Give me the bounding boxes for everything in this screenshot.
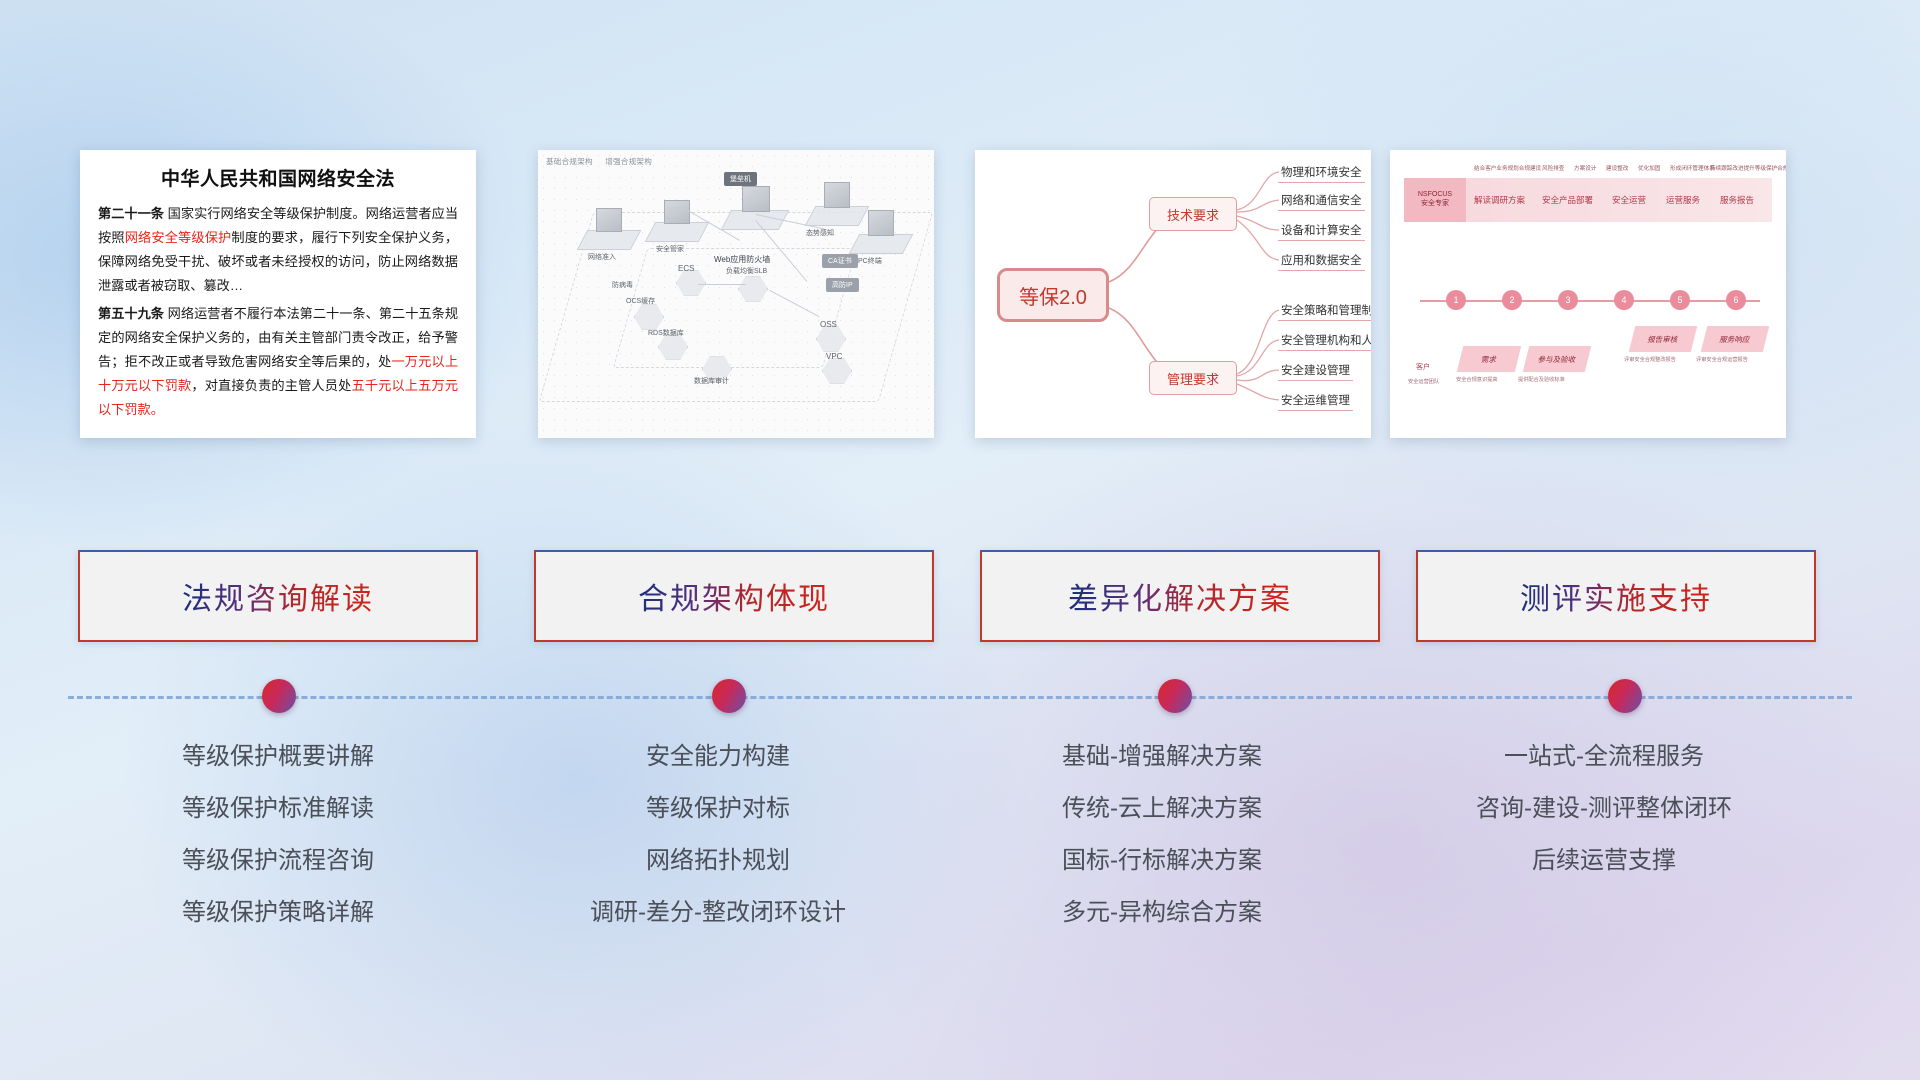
nsfocus-bottom-3-title: 服务响应 (1719, 334, 1752, 345)
timeline-marker-1[interactable] (262, 679, 296, 713)
mindmap-leaf-m0: 安全策略和管理制度 (1278, 302, 1371, 321)
nsfocus-bottom-0-title: 需求 (1480, 354, 1498, 365)
law-article-59-label: 第五十九条 (98, 306, 164, 321)
list-item: 等级保护流程咨询 (68, 849, 488, 873)
nsfocus-mid-4: 服务报告 (1720, 194, 1754, 206)
list-item: 多元-异构综合方案 (952, 901, 1372, 925)
nsfocus-top-1: 风险排查 (1542, 164, 1564, 172)
section-title-box-1[interactable]: 法规咨询解读 (78, 550, 478, 642)
nsfocus-role-sub: 安全运营团队 (1408, 378, 1439, 385)
thumbnail-architecture-diagram[interactable]: 基础合规架构 增强合规架构 (538, 150, 934, 438)
timeline (68, 695, 1852, 699)
mindmap-leaf-m3: 安全运维管理 (1278, 392, 1353, 411)
nsfocus-mid-0: 解读调研方案 (1474, 194, 1525, 206)
architecture-link-3 (698, 284, 746, 285)
nsfocus-step-5: 5 (1670, 290, 1690, 310)
architecture-node-3: 态势感知 (806, 228, 834, 238)
section-list-2: 安全能力构建 等级保护对标 网络拓扑规划 调研-差分-整改闭环设计 (508, 745, 928, 953)
law-article-59: 第五十九条 网络运营者不履行本法第二十一条、第二十五条规定的网络安全保护义务的，… (98, 302, 458, 422)
nsfocus-bottom-1-title: 参与及验收 (1537, 354, 1577, 365)
mindmap-leaf-t1: 网络和通信安全 (1278, 192, 1365, 211)
nsfocus-bottom-3-sub: 评审安全合规运营报告 (1696, 356, 1748, 363)
section-title-box-3[interactable]: 差异化解决方案 (980, 550, 1380, 642)
list-item: 咨询-建设-测评整体闭环 (1394, 797, 1814, 821)
architecture-box-3 (824, 182, 850, 208)
mindmap-leaf-m1: 安全管理机构和人员 (1278, 332, 1371, 351)
architecture-box-2 (742, 186, 770, 212)
section-list-3: 基础-增强解决方案 传统-云上解决方案 国标-行标解决方案 多元-异构综合方案 (952, 745, 1372, 953)
list-item: 国标-行标解决方案 (952, 849, 1372, 873)
list-item: 等级保护标准解读 (68, 797, 488, 821)
section-title-box-4[interactable]: 测评实施支持 (1416, 550, 1816, 642)
architecture-plate-1 (645, 222, 710, 242)
nsfocus-role: 客户 (1416, 362, 1430, 372)
architecture-plate-4 (849, 234, 914, 254)
architecture-plate-0 (577, 230, 642, 250)
thumbnail-law-document[interactable]: 中华人民共和国网络安全法 第二十一条 国家实行网络安全等级保护制度。网络运营者应… (80, 150, 476, 438)
architecture-node-4: PC终端 (858, 256, 882, 266)
law-article-21: 第二十一条 国家实行网络安全等级保护制度。网络运营者应当按照网络安全等级保护制度… (98, 202, 458, 298)
section-list-1: 等级保护概要讲解 等级保护标准解读 等级保护流程咨询 等级保护策略详解 (68, 745, 488, 953)
nsfocus-step-1: 1 (1446, 290, 1466, 310)
nsfocus-top-4: 优化加固 (1638, 164, 1660, 172)
nsfocus-step-2: 2 (1502, 290, 1522, 310)
nsfocus-bottom-2-title: 报告审核 (1647, 334, 1680, 345)
list-item: 基础-增强解决方案 (952, 745, 1372, 769)
list-item: 网络拓扑规划 (508, 849, 928, 873)
nsfocus-brand: NSFOCUS (1418, 191, 1452, 200)
section-title-box-2[interactable]: 合规架构体现 (534, 550, 934, 642)
nsfocus-bottom-2-sub: 评审安全合规整改报告 (1624, 356, 1676, 363)
architecture-node-1: 安全管家 (656, 244, 684, 254)
section-title-label-1: 法规咨询解读 (182, 574, 374, 618)
mindmap-branch-technical: 技术要求 (1149, 197, 1237, 231)
timeline-marker-2[interactable] (712, 679, 746, 713)
architecture-plate-3 (805, 206, 870, 226)
nsfocus-top-5: 形成闭环管理体系 (1670, 164, 1715, 172)
architecture-node-5: 防病毒 (612, 280, 633, 290)
architecture-header-0: 基础合规架构 (546, 157, 593, 166)
nsfocus-mid-3: 运营服务 (1666, 194, 1700, 206)
architecture-node-2: 网络准入 (588, 252, 616, 262)
law-document-body: 中华人民共和国网络安全法 第二十一条 国家实行网络安全等级保护制度。网络运营者应… (80, 150, 476, 430)
list-item: 等级保护策略详解 (68, 901, 488, 925)
mindmap-leaf-t0: 物理和环境安全 (1278, 164, 1365, 183)
nsfocus-bottom-1-sub: 提供配合及验收标准 (1518, 376, 1565, 383)
list-item: 安全能力构建 (508, 745, 928, 769)
thumbnail-mindmap[interactable]: 等保2.0 技术要求 管理要求 物理和环境安全 网络和通信安全 设备和计算安全 … (975, 150, 1371, 438)
law-document-title: 中华人民共和国网络安全法 (98, 164, 458, 191)
timeline-marker-3[interactable] (1158, 679, 1192, 713)
timeline-dashed-line (68, 696, 1852, 699)
architecture-box-4 (868, 210, 894, 236)
thumbnail-nsfocus-timeline[interactable]: NSFOCUS 安全专家 结合客户业务规划合规建设 风险排查 方案设计 建设整改… (1390, 150, 1786, 438)
mindmap-leaf-m2: 安全建设管理 (1278, 362, 1353, 381)
nsfocus-brand-sub: 安全专家 (1421, 200, 1449, 209)
nsfocus-top-2: 方案设计 (1574, 164, 1596, 172)
nsfocus-step-6: 6 (1726, 290, 1746, 310)
list-item: 一站式-全流程服务 (1394, 745, 1814, 769)
mindmap-leaf-t2: 设备和计算安全 (1278, 222, 1365, 241)
architecture-node-11: OCS缓存 (626, 296, 655, 306)
architecture-header-1: 增强合规架构 (605, 157, 652, 166)
thumbnail-row: 中华人民共和国网络安全法 第二十一条 国家实行网络安全等级保护制度。网络运营者应… (0, 150, 1920, 440)
section-title-label-2: 合规架构体现 (638, 574, 830, 618)
timeline-marker-4[interactable] (1608, 679, 1642, 713)
architecture-header: 基础合规架构 增强合规架构 (546, 156, 662, 167)
architecture-node-15: 数据库审计 (694, 376, 729, 386)
section-title-label-3: 差异化解决方案 (1068, 574, 1292, 618)
mindmap-leaf-t3: 应用和数据安全 (1278, 252, 1365, 271)
nsfocus-top-0: 结合客户业务规划合规建设 (1474, 164, 1541, 172)
architecture-canvas: 基础合规架构 增强合规架构 (538, 150, 934, 438)
slide-canvas: 中华人民共和国网络安全法 第二十一条 国家实行网络安全等级保护制度。网络运营者应… (0, 0, 1920, 1080)
architecture-node-8: 高防IP (826, 278, 859, 292)
list-item: 后续运营支撑 (1394, 849, 1814, 873)
nsfocus-top-6: 持续跟踪改进提升等级保护合规能力 (1710, 164, 1786, 172)
section-title-row: 法规咨询解读 合规架构体现 差异化解决方案 测评实施支持 (0, 550, 1920, 642)
mindmap-root-node: 等保2.0 (997, 268, 1109, 322)
mindmap-canvas: 等保2.0 技术要求 管理要求 物理和环境安全 网络和通信安全 设备和计算安全 … (975, 150, 1371, 438)
list-item: 等级保护对标 (508, 797, 928, 821)
nsfocus-bottom-3: 服务响应 (1701, 326, 1769, 352)
nsfocus-brand-tag: NSFOCUS 安全专家 (1404, 178, 1466, 222)
nsfocus-top-3: 建设整改 (1606, 164, 1628, 172)
nsfocus-bottom-0: 需求 (1457, 346, 1521, 372)
law-article-21-label: 第二十一条 (98, 206, 164, 221)
law-article-21-run-1: 网络安全等级保护 (125, 230, 232, 245)
architecture-node-10: 负载均衡SLB (726, 266, 767, 276)
architecture-node-12: RDS数据库 (648, 328, 684, 338)
architecture-node-13: OSS (820, 320, 837, 329)
architecture-node-14: VPC (826, 352, 842, 361)
architecture-node-0: 堡垒机 (724, 172, 757, 186)
architecture-node-9: ECS (678, 264, 694, 273)
nsfocus-bottom-2: 报告审核 (1629, 326, 1697, 352)
architecture-box-1 (664, 200, 690, 224)
nsfocus-canvas: NSFOCUS 安全专家 结合客户业务规划合规建设 风险排查 方案设计 建设整改… (1390, 150, 1786, 438)
nsfocus-bottom-1: 参与及验收 (1523, 346, 1591, 372)
list-item: 等级保护概要讲解 (68, 745, 488, 769)
nsfocus-step-4: 4 (1614, 290, 1634, 310)
nsfocus-step-3: 3 (1558, 290, 1578, 310)
architecture-node-7: CA证书 (822, 254, 858, 268)
list-item: 传统-云上解决方案 (952, 797, 1372, 821)
nsfocus-bottom-0-sub: 安全合规意识提高 (1456, 376, 1498, 383)
mindmap-branch-management: 管理要求 (1149, 361, 1237, 395)
section-title-label-4: 测评实施支持 (1520, 574, 1712, 618)
section-list-row: 等级保护概要讲解 等级保护标准解读 等级保护流程咨询 等级保护策略详解 安全能力… (0, 745, 1920, 975)
architecture-node-6: Web应用防火墙 (714, 254, 770, 265)
nsfocus-axis (1420, 300, 1760, 302)
law-article-59-run-2: ，对直接负责的主管人员处 (191, 378, 351, 393)
section-list-4: 一站式-全流程服务 咨询-建设-测评整体闭环 后续运营支撑 (1394, 745, 1814, 901)
nsfocus-mid-1: 安全产品部署 (1542, 194, 1593, 206)
list-item: 调研-差分-整改闭环设计 (508, 901, 928, 925)
nsfocus-mid-2: 安全运营 (1612, 194, 1646, 206)
architecture-box-0 (596, 208, 622, 232)
